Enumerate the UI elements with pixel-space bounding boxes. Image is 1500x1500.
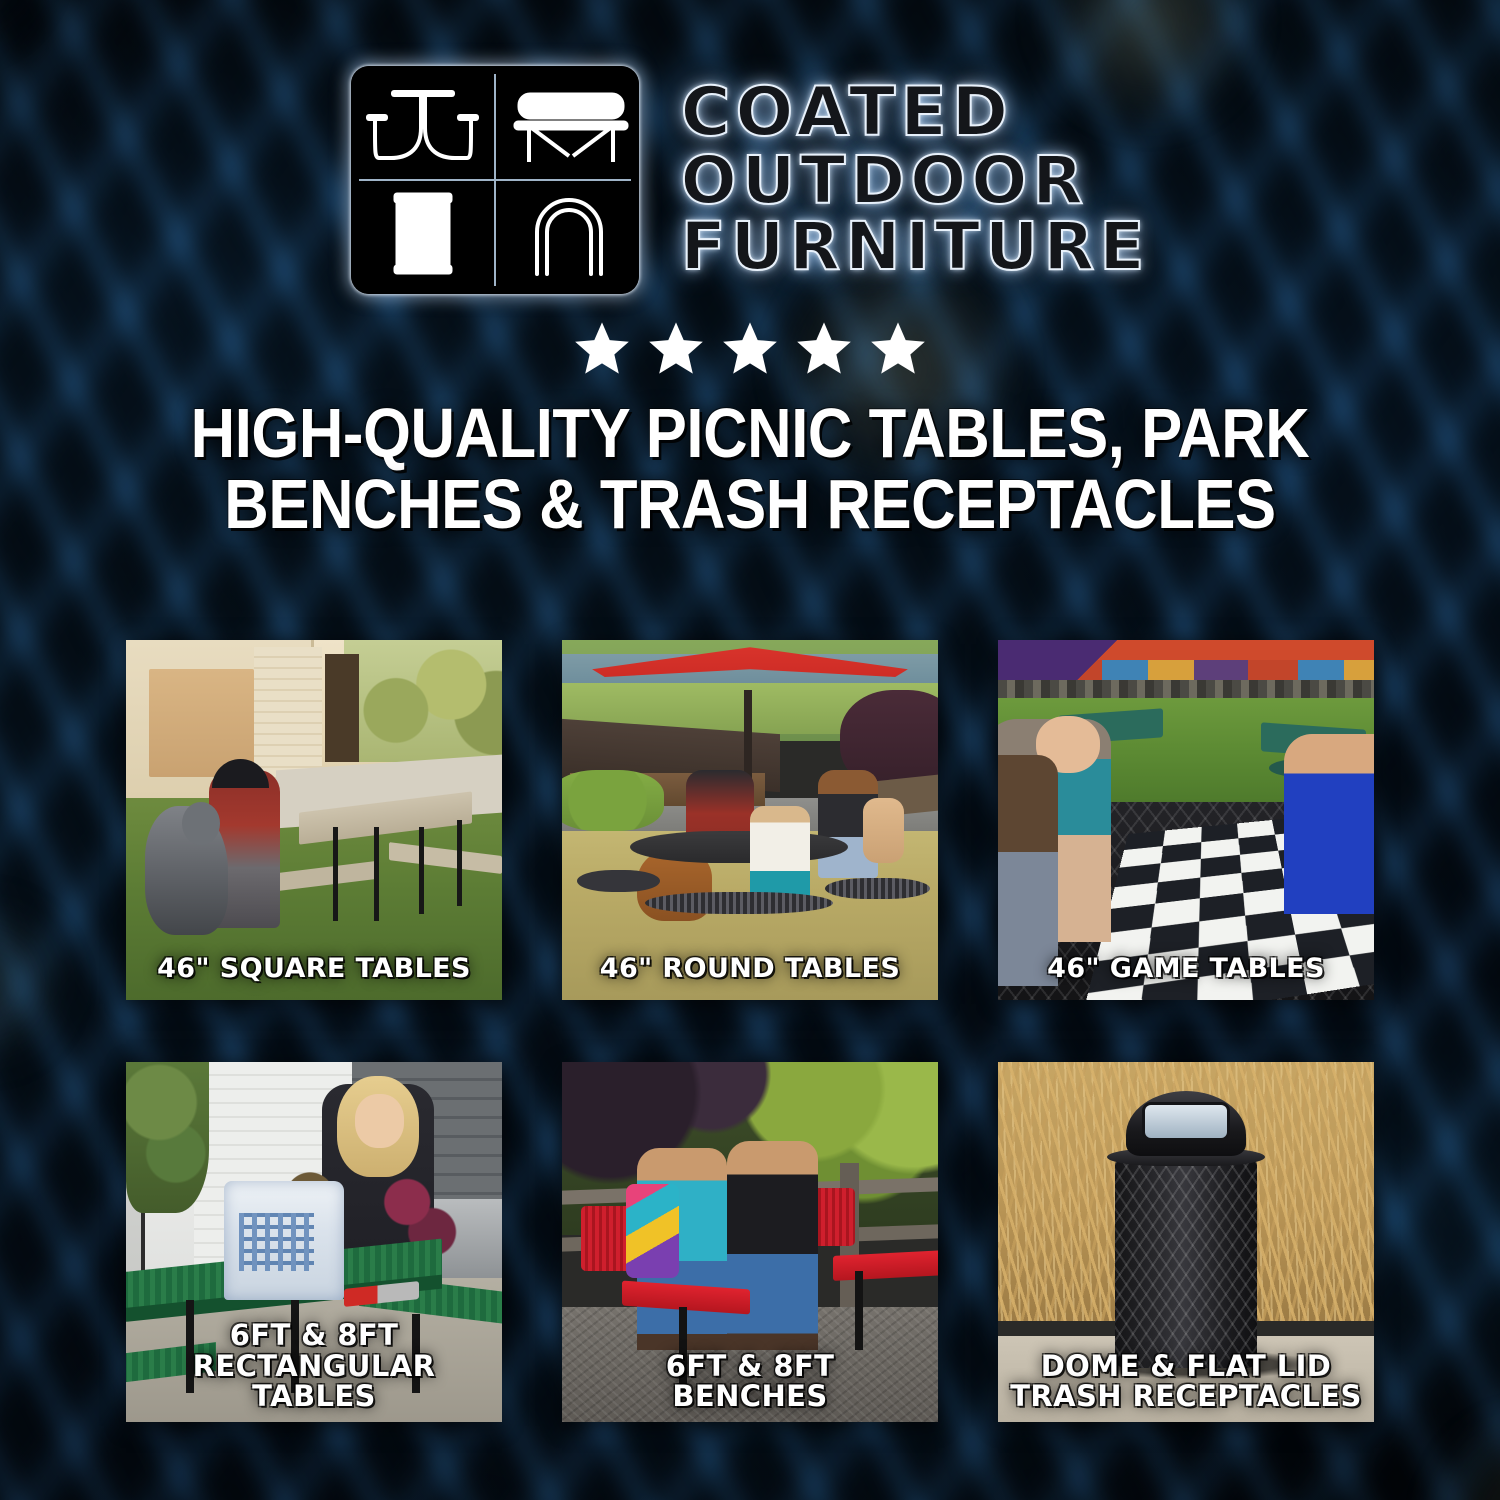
product-tile-square-tables[interactable]: 46" SQUARE TABLES xyxy=(126,640,502,1000)
logo-wordmark: COATED OUTDOOR FURNITURE xyxy=(681,80,1150,280)
star-icon xyxy=(722,320,778,376)
product-tile-game-tables[interactable]: 46" GAME TABLES xyxy=(998,640,1374,1000)
star-icon xyxy=(870,320,926,376)
logo-word-line3: FURNITURE xyxy=(681,215,1150,280)
brand-logo: COATED OUTDOOR FURNITURE xyxy=(0,0,1500,294)
product-tile-benches[interactable]: 6FT & 8FT BENCHES xyxy=(562,1062,938,1422)
product-caption-line1: DOME & FLAT LID xyxy=(1041,1349,1332,1383)
headline-line-1: HIGH-QUALITY PICNIC TABLES, PARK xyxy=(191,394,1310,472)
product-caption-line2: RECTANGULAR TABLES xyxy=(134,1351,494,1412)
product-caption-line1: 6FT & 8FT xyxy=(666,1349,835,1383)
product-caption-line2: TRASH RECEPTACLES xyxy=(1006,1381,1366,1412)
product-tile-round-tables[interactable]: 46" ROUND TABLES xyxy=(562,640,938,1000)
logo-word-line2: OUTDOOR xyxy=(681,149,1150,214)
promo-banner: COATED OUTDOOR FURNITURE HIGH-QUALITY PI… xyxy=(0,0,1500,1500)
product-photo-square-tables xyxy=(126,640,502,1000)
star-icon xyxy=(796,320,852,376)
logo-word-line1: COATED xyxy=(681,80,1150,147)
product-caption: 6FT & 8FT BENCHES xyxy=(562,1351,938,1412)
product-caption-line2: BENCHES xyxy=(570,1381,930,1412)
star-icon xyxy=(574,320,630,376)
product-caption: 6FT & 8FT RECTANGULAR TABLES xyxy=(126,1320,502,1412)
headline-line-2: BENCHES & TRASH RECEPTACLES xyxy=(152,469,1349,540)
product-caption-line1: 46" ROUND TABLES xyxy=(600,953,900,984)
product-caption-line1: 46" SQUARE TABLES xyxy=(157,953,471,984)
product-tile-rectangular-tables[interactable]: 6FT & 8FT RECTANGULAR TABLES xyxy=(126,1062,502,1422)
page-title: HIGH-QUALITY PICNIC TABLES, PARK BENCHES… xyxy=(90,398,1410,541)
product-caption: 46" ROUND TABLES xyxy=(562,955,938,984)
product-caption-line1: 6FT & 8FT xyxy=(230,1318,399,1352)
product-photo-game-tables xyxy=(998,640,1374,1000)
product-caption: 46" GAME TABLES xyxy=(998,955,1374,984)
star-icon xyxy=(648,320,704,376)
product-grid: 46" SQUARE TABLES 46" ROUND TABLE xyxy=(126,640,1374,1422)
product-tile-trash-receptacles[interactable]: DOME & FLAT LID TRASH RECEPTACLES xyxy=(998,1062,1374,1422)
product-caption: 46" SQUARE TABLES xyxy=(126,955,502,984)
logo-icon-grid xyxy=(351,66,639,294)
star-rating xyxy=(0,320,1500,376)
product-photo-round-tables xyxy=(562,640,938,1000)
product-caption-line1: 46" GAME TABLES xyxy=(1047,953,1325,984)
product-caption: DOME & FLAT LID TRASH RECEPTACLES xyxy=(998,1351,1374,1412)
